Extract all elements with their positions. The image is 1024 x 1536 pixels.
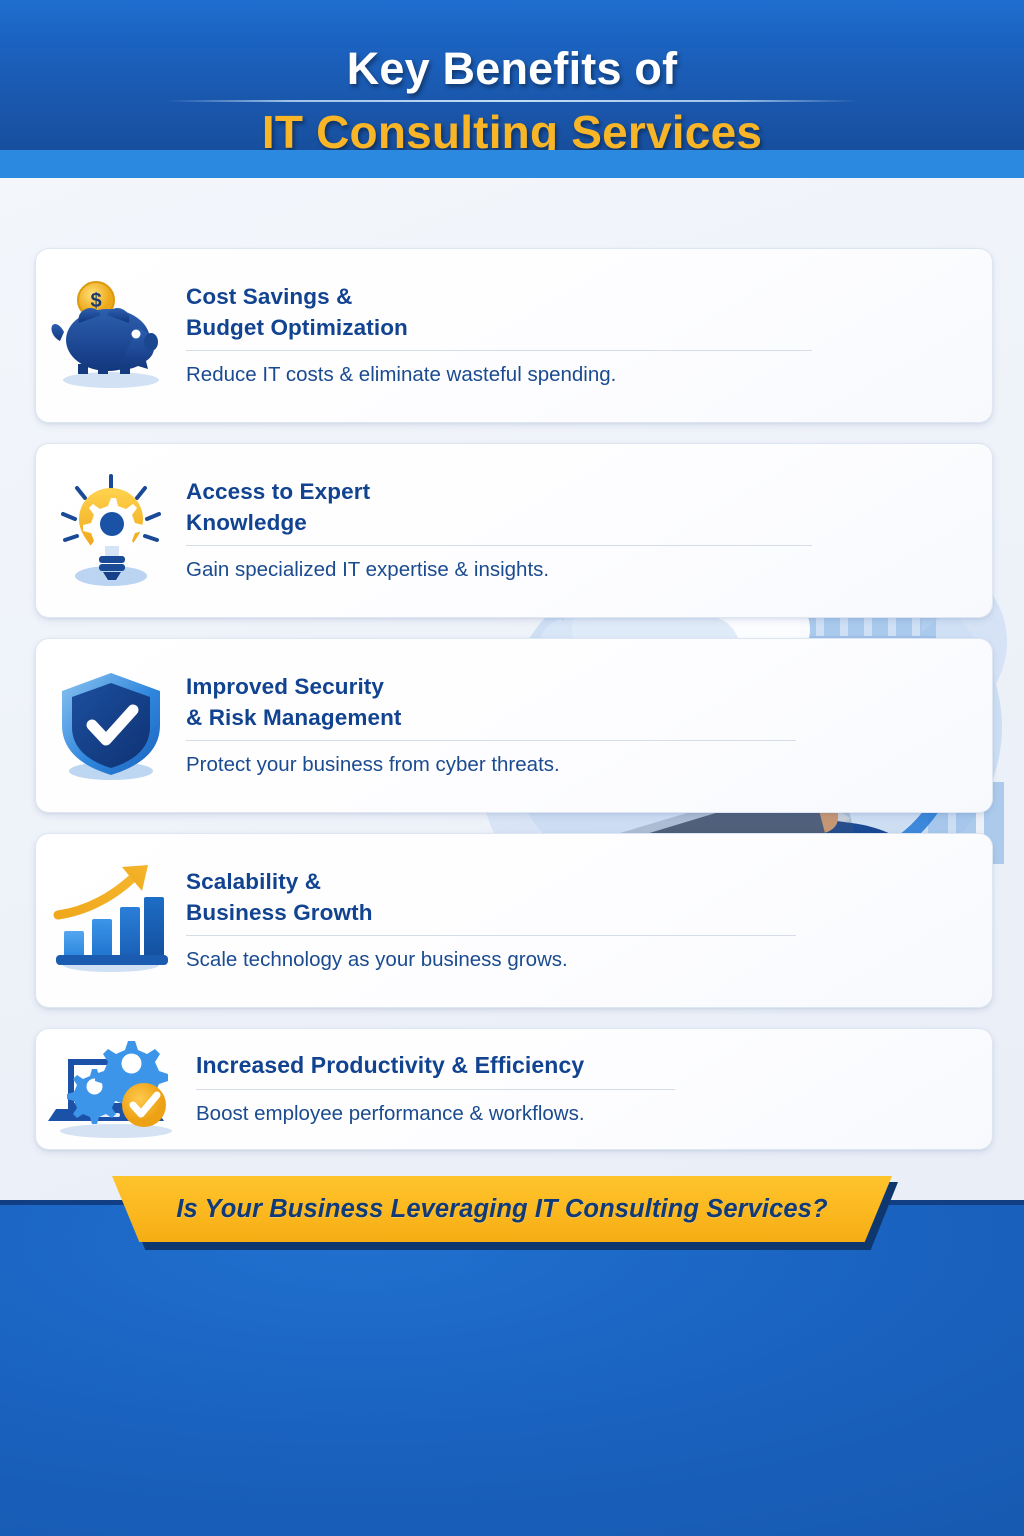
benefit-text: Increased Productivity & Efficiency Boos… <box>196 1050 992 1128</box>
benefit-card-scalability[interactable]: Scalability & Business Growth Scale tech… <box>35 833 993 1008</box>
benefit-text: Improved Security & Risk Management Prot… <box>186 671 992 779</box>
piggy-bank-icon: $ <box>36 280 186 392</box>
benefit-card-productivity[interactable]: Increased Productivity & Efficiency Boos… <box>35 1028 993 1150</box>
benefit-description: Scale technology as your business grows. <box>186 945 968 974</box>
benefit-card-improved-security[interactable]: Improved Security & Risk Management Prot… <box>35 638 993 813</box>
title-divider <box>196 1089 675 1090</box>
benefit-text: Cost Savings & Budget Optimization Reduc… <box>186 281 992 389</box>
title-divider <box>186 740 796 741</box>
cta-banner[interactable]: Is Your Business Leveraging IT Consultin… <box>112 1176 892 1242</box>
lightbulb-gear-icon <box>36 472 186 590</box>
cta-banner-text: Is Your Business Leveraging IT Consultin… <box>176 1195 827 1224</box>
laptop-gears-check-icon <box>36 1039 196 1139</box>
cta-banner-wrap: Is Your Business Leveraging IT Consultin… <box>0 1168 1024 1260</box>
benefit-title: Scalability & Business Growth <box>186 866 968 928</box>
title-divider <box>186 350 812 351</box>
shield-check-icon <box>36 667 186 785</box>
benefit-card-cost-savings[interactable]: $ Cost Savings & Budget Optimization Red… <box>35 248 993 423</box>
benefit-description: Protect your business from cyber threats… <box>186 750 968 779</box>
benefit-title: Improved Security & Risk Management <box>186 671 968 733</box>
benefit-card-expert-knowledge[interactable]: Access to Expert Knowledge Gain speciali… <box>35 443 993 618</box>
bar-chart-arrow-icon <box>36 863 186 979</box>
header-banner: Key Benefits of IT Consulting Services <box>0 0 1024 196</box>
benefit-description: Boost employee performance & workflows. <box>196 1099 968 1128</box>
benefit-title: Increased Productivity & Efficiency <box>196 1050 968 1082</box>
benefit-title: Access to Expert Knowledge <box>186 476 968 538</box>
benefit-text: Scalability & Business Growth Scale tech… <box>186 866 992 974</box>
benefit-title: Cost Savings & Budget Optimization <box>186 281 968 343</box>
page-title-line-1: Key Benefits of <box>347 46 678 91</box>
title-divider <box>167 100 857 102</box>
title-divider <box>186 545 812 546</box>
benefit-description: Reduce IT costs & eliminate wasteful spe… <box>186 360 968 389</box>
benefit-description: Gain specialized IT expertise & insights… <box>186 555 968 584</box>
title-divider <box>186 935 796 936</box>
benefit-text: Access to Expert Knowledge Gain speciali… <box>186 476 992 584</box>
